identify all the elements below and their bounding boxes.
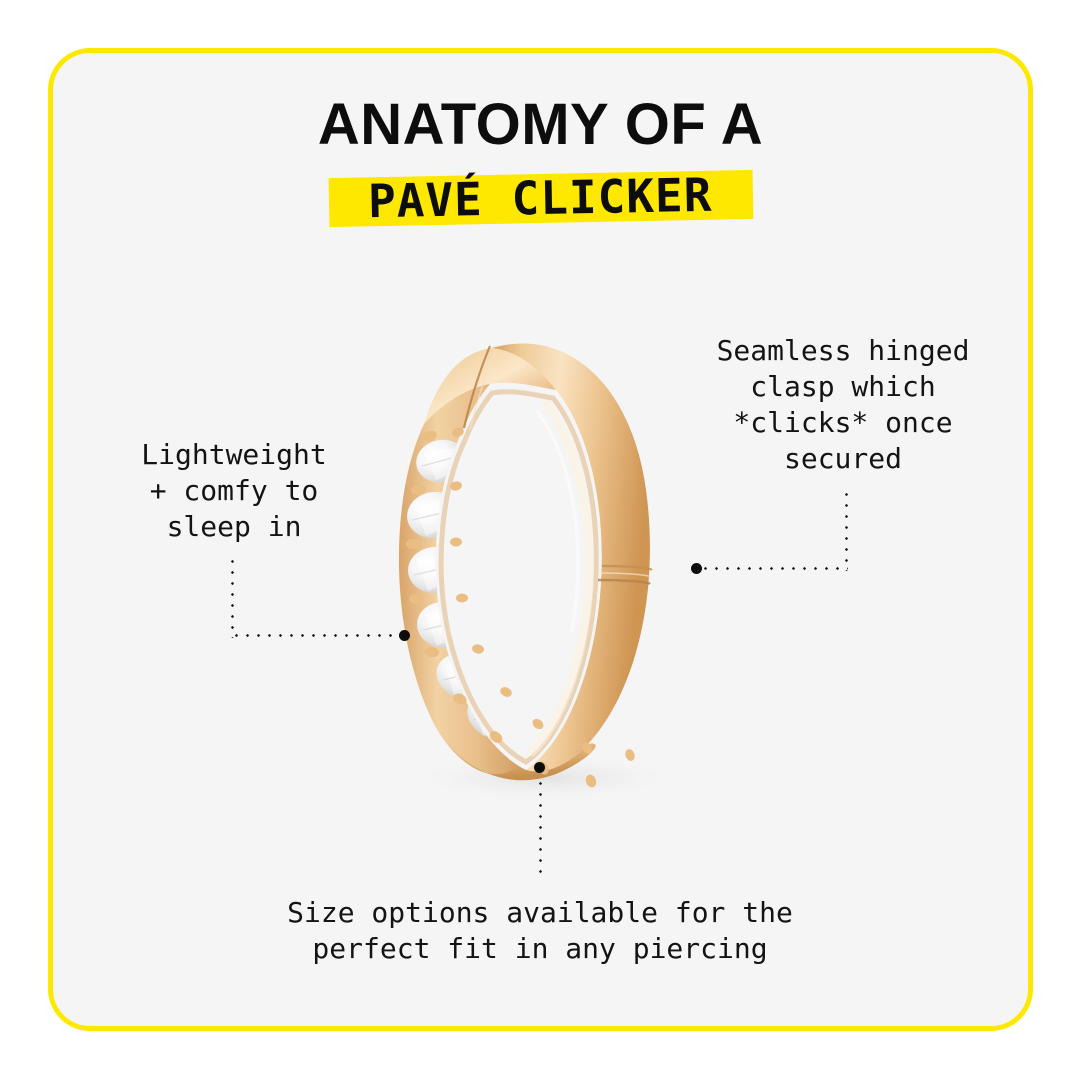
leader-line-clasp-horizontal <box>700 567 848 570</box>
leader-endpoint-lightweight <box>399 630 410 641</box>
leader-endpoint-clasp <box>691 563 702 574</box>
leader-endpoint-sizing <box>534 762 545 773</box>
leader-line-lightweight-vertical <box>231 556 234 638</box>
callout-sizing: Size options available for the perfect f… <box>200 895 880 967</box>
leader-line-lightweight-horizontal <box>231 634 401 637</box>
infographic-canvas: ANATOMY OF A PAVÉ CLICKER <box>0 0 1081 1081</box>
callout-clasp: Seamless hinged clasp which *clicks* onc… <box>678 333 1008 477</box>
leader-line-clasp-vertical <box>845 489 848 571</box>
callout-lightweight: Lightweight + comfy to sleep in <box>74 437 394 545</box>
leader-line-sizing-vertical <box>539 778 542 876</box>
